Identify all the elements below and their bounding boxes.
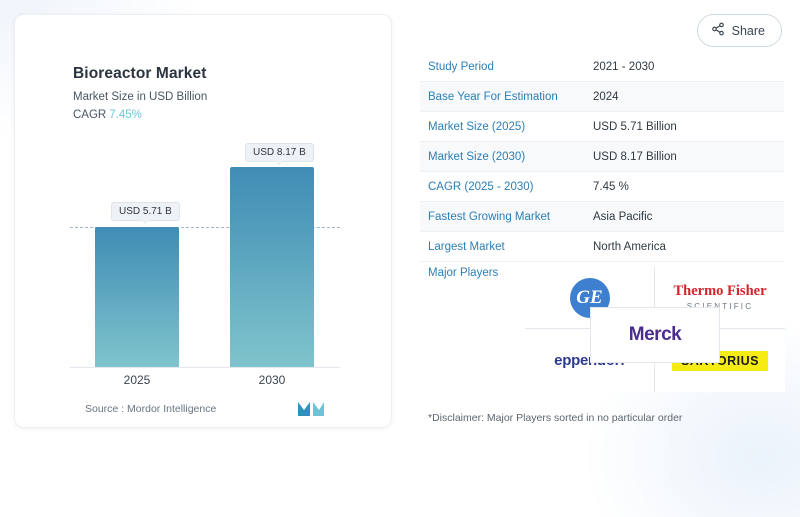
x-tick-2025: 2025 <box>95 373 179 387</box>
major-players-label: Major Players <box>428 267 498 279</box>
spec-key: Fastest Growing Market <box>420 211 593 223</box>
source-label: Source : <box>85 403 124 415</box>
spec-value: Asia Pacific <box>593 211 652 223</box>
table-row: Base Year For Estimation 2024 <box>420 82 784 112</box>
logo-grid: GE Thermo Fisher SCIENTIFIC eppendorf SA… <box>525 267 785 392</box>
disclaimer-text: *Disclaimer: Major Players sorted in no … <box>428 412 682 424</box>
table-row: Largest Market North America <box>420 232 784 262</box>
spec-key: Market Size (2025) <box>420 121 593 133</box>
share-icon <box>711 22 725 39</box>
table-row: Study Period 2021 - 2030 <box>420 52 784 82</box>
spec-value: USD 8.17 Billion <box>593 151 677 163</box>
bar-2030[interactable] <box>230 167 314 367</box>
spec-key: CAGR (2025 - 2030) <box>420 181 593 193</box>
x-axis-line <box>70 367 340 368</box>
share-label: Share <box>732 24 765 38</box>
spec-value: North America <box>593 241 666 253</box>
table-row: Fastest Growing Market Asia Pacific <box>420 202 784 232</box>
source-text: Source : Mordor Intelligence <box>85 403 216 415</box>
bar-2025[interactable] <box>95 227 179 367</box>
spec-key: Largest Market <box>420 241 593 253</box>
x-tick-2030: 2030 <box>230 373 314 387</box>
spec-key: Study Period <box>420 61 593 73</box>
bar-chart-plot: USD 5.71 B USD 8.17 B 2025 2030 <box>15 15 391 427</box>
spec-key: Base Year For Estimation <box>420 91 593 103</box>
mordor-intelligence-logo <box>297 398 325 418</box>
logo-cell-merck: Merck <box>590 307 720 363</box>
major-players-logos: GE Thermo Fisher SCIENTIFIC eppendorf SA… <box>525 267 785 392</box>
spec-table: Study Period 2021 - 2030 Base Year For E… <box>420 52 784 262</box>
spec-value: 7.45 % <box>593 181 629 193</box>
source-name: Mordor Intelligence <box>127 403 216 415</box>
table-row: CAGR (2025 - 2030) 7.45 % <box>420 172 784 202</box>
infographic-page: Share Bioreactor Market Market Size in U… <box>0 0 800 457</box>
table-row: Market Size (2030) USD 8.17 Billion <box>420 142 784 172</box>
spec-value: 2021 - 2030 <box>593 61 654 73</box>
share-button[interactable]: Share <box>697 14 782 47</box>
merck-logo: Merck <box>629 324 681 346</box>
spec-value: 2024 <box>593 91 619 103</box>
chart-card: Bioreactor Market Market Size in USD Bil… <box>14 14 392 428</box>
table-row: Market Size (2025) USD 5.71 Billion <box>420 112 784 142</box>
bar-label-2030: USD 8.17 B <box>245 143 314 162</box>
spec-key: Market Size (2030) <box>420 151 593 163</box>
bar-label-2025: USD 5.71 B <box>111 202 180 221</box>
spec-value: USD 5.71 Billion <box>593 121 677 133</box>
thermofisher-wordmark: Thermo Fisher <box>673 284 766 300</box>
